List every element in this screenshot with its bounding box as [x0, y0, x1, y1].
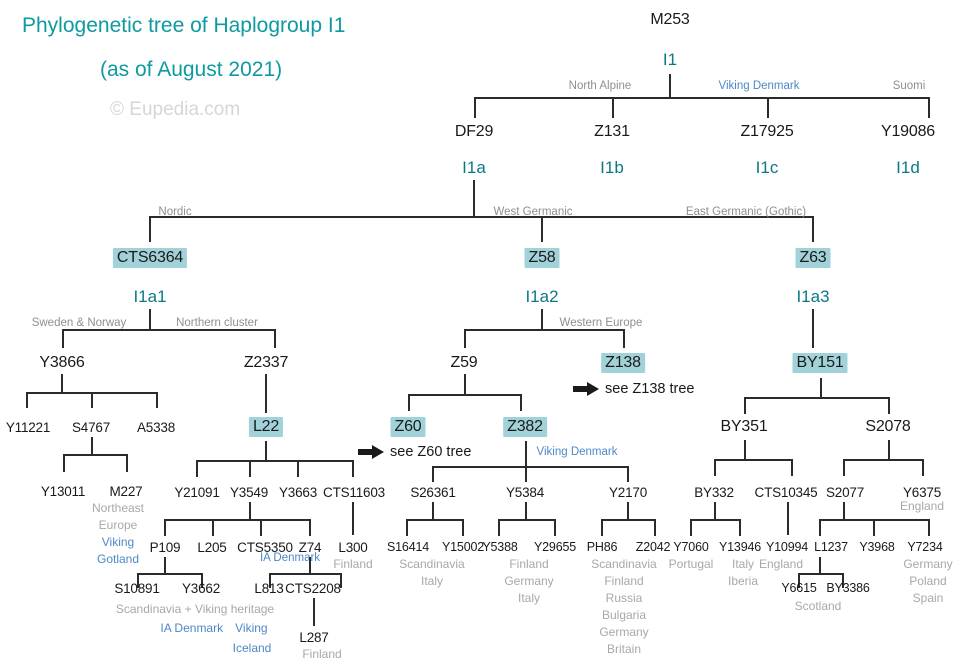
edge-drop-s16414 [406, 519, 408, 536]
edge-drop-y13011 [63, 454, 65, 472]
region-y2170: ScandinaviaFinlandRussiaBulgariaGermanyB… [591, 556, 656, 658]
edge-bus-z59 [408, 394, 521, 396]
edge-bus-s2078 [843, 459, 923, 461]
region-line: Finland [333, 556, 372, 573]
node-a5338: A5338 [137, 420, 175, 435]
edge-bus-z74 [269, 573, 341, 575]
node-m253: M253 [650, 11, 689, 29]
region-line: Germany [591, 624, 656, 641]
phylogenetic-tree-diagram: Phylogenetic tree of Haplogroup I1 (as o… [0, 0, 960, 670]
region-l300: Finland [333, 556, 372, 573]
edge-drop-y19086 [928, 97, 930, 118]
node-s10891: S10891 [114, 581, 159, 596]
edge-drop-y11221 [26, 392, 28, 408]
arrow-right-icon [573, 382, 599, 396]
region-line: Bulgaria [591, 607, 656, 624]
edge-s4767-trunk [91, 437, 93, 455]
region-line: Iceland [233, 640, 272, 657]
edge-bus-s4767 [63, 454, 127, 456]
edge-drop-s2077 [843, 459, 845, 476]
edge-label-northern-cluster: Northern cluster [176, 317, 258, 329]
clade-i1b: I1b [600, 158, 624, 178]
edge-y2170-trunk [627, 502, 629, 520]
edge-drop-z2337 [274, 329, 276, 348]
edge-bus-by351 [714, 459, 792, 461]
node-l287: L287 [299, 630, 328, 645]
edge-label-east-germanic: East Germanic (Gothic) [686, 206, 806, 218]
edge-s2077-trunk [843, 502, 845, 520]
node-ph86: PH86 [587, 540, 617, 554]
node-y3968: Y3968 [859, 540, 894, 554]
node-y3866: Y3866 [39, 354, 84, 372]
edge-z382-trunk [525, 441, 527, 467]
node-z2337: Z2337 [244, 354, 288, 372]
edge-i1-trunk [669, 74, 671, 98]
edge-drop-z382 [520, 394, 522, 411]
edge-drop-y7060 [690, 519, 692, 536]
node-l813: L813 [254, 581, 283, 596]
edge-by332-trunk [714, 502, 716, 520]
node-z63: Z63 [796, 249, 831, 267]
clade-i1c: I1c [756, 158, 779, 178]
edge-z59-trunk [464, 374, 466, 395]
edge-drop-y7234 [928, 519, 930, 536]
node-z131: Z131 [594, 123, 630, 141]
edge-drop-z60 [408, 394, 410, 411]
clade-i1d: I1d [896, 158, 920, 178]
region-line: Portugal [669, 556, 714, 573]
node-cts6364: CTS6364 [113, 249, 187, 267]
node-s2078: S2078 [865, 418, 910, 436]
region-line: Scandinavia [591, 556, 656, 573]
region-line: Finland [591, 573, 656, 590]
node-s2077: S2077 [826, 485, 864, 500]
node-s26361: S26361 [410, 485, 455, 500]
edge-s2078-trunk [888, 440, 890, 460]
clade-i1: I1 [663, 50, 677, 70]
edge-cts2208-trunk [313, 598, 315, 626]
node-cts6364-label: CTS6364 [113, 248, 187, 268]
edge-drop-y2170 [627, 466, 629, 482]
edge-label-west-germanic: West Germanic [493, 206, 572, 218]
edge-bus-l22 [196, 460, 353, 462]
node-by3386: BY3386 [826, 581, 869, 595]
edge-drop-z138 [623, 329, 625, 348]
node-by151-label: BY151 [792, 353, 847, 373]
node-y7060: Y7060 [673, 540, 708, 554]
edge-drop-cts10345 [791, 459, 793, 476]
region-line: Viking [97, 534, 139, 551]
edge-drop-z17925 [767, 97, 769, 118]
region-y13946: ItalyIberia [728, 556, 758, 590]
region-y6615: Scotland [795, 598, 842, 615]
edge-bus-y3549 [164, 519, 310, 521]
edge-drop-m227 [126, 454, 128, 472]
edge-drop-s26361 [432, 466, 434, 482]
edge-drop-df29 [474, 97, 476, 118]
clade-i1a: I1a [462, 158, 486, 178]
region-line: Spain [903, 590, 952, 607]
region-line: Europe [92, 517, 144, 534]
node-z60-label: Z60 [391, 417, 426, 437]
edge-bus-l1237 [798, 573, 843, 575]
edge-drop-z131 [612, 97, 614, 118]
region-line: Germany [903, 556, 952, 573]
edge-drop-z58 [541, 216, 543, 242]
region-line: Finland [504, 556, 553, 573]
node-m227: M227 [110, 484, 143, 499]
edge-i1a1-trunk [149, 309, 151, 330]
edge-y3549-trunk [249, 502, 251, 520]
see-z60-tree-ref[interactable]: see Z60 tree [358, 444, 471, 460]
edge-drop-y13946 [739, 519, 741, 536]
node-y2170: Y2170 [609, 485, 647, 500]
node-l205: L205 [197, 540, 226, 555]
clade-i1a2: I1a2 [525, 287, 558, 307]
edge-drop-y3549 [249, 460, 251, 477]
node-l22: L22 [249, 418, 283, 436]
region-line: Iberia [728, 573, 758, 590]
edge-cts11603-trunk [352, 502, 354, 535]
edge-bus-z382 [432, 466, 628, 468]
edge-drop-cts6364 [149, 216, 151, 242]
see-z138-tree-ref[interactable]: see Z138 tree [573, 381, 694, 397]
edge-drop-y3968 [873, 519, 875, 536]
node-by151: BY151 [792, 354, 847, 372]
edge-drop-a5338 [156, 392, 158, 408]
node-l300: L300 [338, 540, 367, 555]
edge-l1237-trunk [819, 557, 821, 574]
see-z138-tree-label: see Z138 tree [605, 381, 694, 397]
node-y3663: Y3663 [279, 485, 317, 500]
edge-l22-trunk [265, 441, 267, 461]
node-y10994: Y10994 [766, 540, 808, 554]
edge-i1a3-trunk [812, 309, 814, 348]
node-p109: P109 [150, 540, 181, 555]
edge-bus-y5384 [498, 519, 555, 521]
edge-bus-i1a2 [464, 329, 624, 331]
node-y5388: Y5388 [482, 540, 517, 554]
region-line: England [759, 556, 803, 573]
region-line: Italy [728, 556, 758, 573]
node-cts11603: CTS11603 [323, 485, 385, 500]
node-z138: Z138 [601, 354, 645, 372]
node-y7234: Y7234 [907, 540, 942, 554]
node-y29655: Y29655 [534, 540, 576, 554]
node-y5384: Y5384 [506, 485, 544, 500]
edge-drop-cts11603 [352, 460, 354, 477]
node-df29: DF29 [455, 123, 493, 141]
edge-drop-ph86 [601, 519, 603, 536]
region-line: Finland [302, 646, 341, 663]
node-z59: Z59 [451, 354, 478, 372]
node-by351: BY351 [720, 418, 767, 436]
region-s26361: ScandinaviaItaly [399, 556, 464, 590]
node-s4767: S4767 [72, 420, 110, 435]
region-line: England [900, 498, 944, 515]
node-cts10345: CTS10345 [755, 485, 818, 500]
page-title-line1: Phylogenetic tree of Haplogroup I1 [22, 14, 345, 38]
region-y10994: England [759, 556, 803, 573]
node-y15002: Y15002 [442, 540, 484, 554]
region-line: Scandinavia [399, 556, 464, 573]
node-z382-label: Z382 [503, 417, 547, 437]
edge-label-north-alpine: North Alpine [569, 80, 632, 92]
node-y21091: Y21091 [174, 485, 219, 500]
node-z138-label: Z138 [601, 353, 645, 373]
region-iceland-blue: Iceland [233, 640, 272, 657]
edge-drop-z59 [464, 329, 466, 348]
region-line: Scandinavia + Viking heritage [116, 601, 274, 618]
edge-drop-cts5350 [260, 519, 262, 536]
region-line: Gotland [97, 551, 139, 568]
edge-label-ia-denmark-z74: IA Denmark [260, 552, 320, 564]
region-line: IA Denmark [160, 620, 223, 637]
region-y7234: GermanyPolandSpain [903, 556, 952, 607]
edge-drop-y29655 [554, 519, 556, 536]
edge-drop-y21091 [196, 460, 198, 477]
clade-i1a3: I1a3 [796, 287, 829, 307]
edge-bus-level1 [474, 97, 929, 99]
node-z60: Z60 [391, 418, 426, 436]
page-title-line2: (as of August 2021) [100, 58, 282, 82]
edge-drop-p109 [164, 519, 166, 536]
node-l1237: L1237 [814, 540, 848, 554]
node-z58-label: Z58 [525, 248, 560, 268]
edge-drop-y3866 [62, 329, 64, 348]
region-m227: NortheastEurope [92, 500, 144, 534]
node-y6615: Y6615 [781, 581, 816, 595]
edge-z2337-trunk [265, 374, 267, 413]
edge-drop-y3663 [297, 460, 299, 477]
node-y13946: Y13946 [719, 540, 761, 554]
node-z17925: Z17925 [740, 123, 793, 141]
edge-drop-y5384 [525, 466, 527, 482]
edge-cts10345-trunk [787, 502, 789, 535]
region-y6375: England [900, 498, 944, 515]
edge-bus-by332 [690, 519, 740, 521]
node-s16414: S16414 [387, 540, 429, 554]
edge-drop-by332 [714, 459, 716, 476]
node-z58: Z58 [525, 249, 560, 267]
edge-drop-s4767 [91, 392, 93, 408]
edge-y3866-trunk [61, 374, 63, 393]
copyright-credit: © Eupedia.com [110, 99, 240, 121]
node-y3662: Y3662 [182, 581, 220, 596]
edge-bus-i1a1 [62, 329, 275, 331]
edge-label-sweden-norway: Sweden & Norway [32, 317, 127, 329]
edge-drop-z2042 [654, 519, 656, 536]
see-z60-tree-label: see Z60 tree [390, 444, 471, 460]
region-line: Viking [235, 620, 267, 637]
edge-drop-s2078 [888, 397, 890, 414]
edge-label-viking-denmark-z382: Viking Denmark [537, 446, 618, 458]
edge-bus-s26361 [406, 519, 463, 521]
edge-bus-p109 [137, 573, 202, 575]
node-cts2208: CTS2208 [285, 581, 341, 596]
node-y19086: Y19086 [881, 123, 935, 141]
edge-s26361-trunk [432, 502, 434, 520]
edge-drop-y6375 [922, 459, 924, 476]
node-z63-label: Z63 [796, 248, 831, 268]
edge-drop-by351 [744, 397, 746, 414]
edge-label-western-europe: Western Europe [560, 317, 643, 329]
edge-by151-trunk [820, 378, 822, 398]
node-z2042: Z2042 [636, 540, 670, 554]
region-y7060: Portugal [669, 556, 714, 573]
region-line: Italy [399, 573, 464, 590]
region-p109-sub: Scandinavia + Viking heritage [116, 601, 274, 618]
edge-label-suomi: Suomi [893, 80, 926, 92]
node-y13011: Y13011 [41, 484, 85, 499]
region-line: Italy [504, 590, 553, 607]
edge-z74-trunk [309, 557, 311, 574]
edge-bus-by151 [744, 397, 889, 399]
edge-drop-l205 [212, 519, 214, 536]
edge-by351-trunk [744, 440, 746, 460]
region-line: Poland [903, 573, 952, 590]
node-y3549: Y3549 [230, 485, 268, 500]
node-y11221: Y11221 [6, 420, 50, 435]
node-z382: Z382 [503, 418, 547, 436]
region-m227-blue: VikingGotland [97, 534, 139, 568]
region-line: Russia [591, 590, 656, 607]
region-l287: Finland [302, 646, 341, 663]
edge-drop-z63 [812, 216, 814, 242]
edge-p109-trunk [164, 557, 166, 574]
region-line: Scotland [795, 598, 842, 615]
edge-y5384-trunk [525, 502, 527, 520]
edge-drop-y5388 [498, 519, 500, 536]
edge-i1a2-trunk [541, 309, 543, 330]
region-line: Northeast [92, 500, 144, 517]
region-p109-blue: IA DenmarkViking [160, 620, 267, 637]
region-line: Germany [504, 573, 553, 590]
arrow-right-icon [358, 445, 384, 459]
edge-drop-l1237 [819, 519, 821, 536]
region-line: Britain [591, 641, 656, 658]
edge-bus-y2170 [601, 519, 655, 521]
node-l22-label: L22 [249, 417, 283, 437]
node-by332: BY332 [694, 485, 734, 500]
edge-drop-y15002 [462, 519, 464, 536]
region-y5384: FinlandGermanyItaly [504, 556, 553, 607]
edge-label-viking-denmark-top: Viking Denmark [719, 80, 800, 92]
clade-i1a1: I1a1 [133, 287, 166, 307]
edge-i1a-trunk [473, 180, 475, 217]
edge-label-nordic: Nordic [158, 206, 191, 218]
edge-drop-z74 [309, 519, 311, 536]
